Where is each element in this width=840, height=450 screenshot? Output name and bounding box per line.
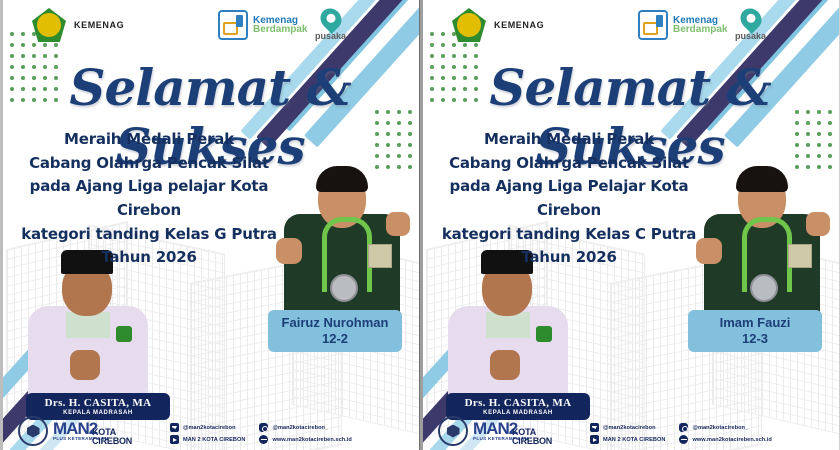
contact-text: @man2kotacirebon	[183, 425, 236, 431]
achievement-line-1: Meraih Medali Perak	[14, 128, 284, 152]
berdampak-mark-icon	[638, 10, 668, 40]
poster-right: KEMENAG Kemenag Berdampak pusaka Selamat…	[420, 0, 840, 450]
school-city-line2-right: CIREBON	[512, 437, 552, 446]
silver-medal-icon	[750, 274, 778, 302]
kemenag-label: KEMENAG	[494, 20, 544, 30]
contact-text: MAN 2 KOTA CIREBON	[603, 437, 665, 443]
principal-photo-left	[28, 248, 148, 398]
student-class-left: 12-2	[272, 331, 398, 347]
kemenag-label: KEMENAG	[74, 20, 124, 30]
contact-text: www.man2kotacireben.sch.id	[272, 437, 351, 443]
youtube-icon	[590, 435, 599, 444]
school-seal-icon	[438, 416, 468, 446]
globe-icon	[259, 435, 268, 444]
poster-pair-canvas: KEMENAG Kemenag Berdampak pusaka Selamat…	[0, 0, 840, 450]
poster-left: KEMENAG Kemenag Berdampak pusaka Selamat…	[0, 0, 420, 450]
kemenag-logo-group: KEMENAG	[452, 8, 544, 42]
contact-text: www.man2kotacireben.sch.id	[692, 437, 771, 443]
achievement-line-5: Tahun 2026	[434, 246, 704, 270]
contact-item[interactable]: @man2kotacirebon	[170, 423, 245, 432]
pusaka-droplet-icon	[316, 4, 346, 34]
contact-item[interactable]: @man2kotacirebon	[590, 423, 665, 432]
youtube-icon	[170, 435, 179, 444]
kemenag-berdampak-logo: Kemenag Berdampak	[218, 10, 307, 40]
student-name-right: Imam Fauzi	[692, 315, 818, 331]
principal-photo-right	[448, 248, 568, 398]
instagram-icon	[679, 423, 688, 432]
student-class-right: 12-3	[692, 331, 818, 347]
globe-icon	[679, 435, 688, 444]
contact-item[interactable]: @man2kotacirebon_	[679, 423, 771, 432]
twitter-icon	[170, 423, 179, 432]
principal-name-left: Drs. H. CASITA, MA	[32, 397, 164, 409]
kemenag-logo-group: KEMENAG	[32, 8, 124, 42]
achievement-line-4: kategori tanding Kelas C Putra	[434, 223, 704, 247]
contact-item[interactable]: @man2kotacirebon_	[259, 423, 351, 432]
achievement-line-2: Cabang Olahrga Pencak Silat	[434, 152, 704, 176]
student-name-badge-right: Imam Fauzi 12-3	[688, 310, 822, 353]
achievement-line-1: Meraih Medali Perak	[434, 128, 704, 152]
twitter-icon	[590, 423, 599, 432]
kemenag-pentagon-icon	[32, 8, 66, 42]
berdampak-mark-icon	[218, 10, 248, 40]
contact-list-right: @man2kotacirebon MAN 2 KOTA CIREBON @man…	[590, 423, 772, 444]
poster-divider	[419, 0, 420, 450]
contact-text: @man2kotacirebon_	[272, 425, 328, 431]
contact-text: @man2kotacirebon_	[692, 425, 748, 431]
contact-list-left: @man2kotacirebon MAN 2 KOTA CIREBON @man…	[170, 423, 352, 444]
pusaka-logo: pusaka	[315, 8, 346, 41]
kemenag-berdampak-logo: Kemenag Berdampak	[638, 10, 727, 40]
poster-footer-right: MAN2 PLUS KETERAMPILAN KOTA CIREBON @man…	[420, 416, 840, 448]
contact-item[interactable]: www.man2kotacireben.sch.id	[679, 435, 771, 444]
principal-name-right: Drs. H. CASITA, MA	[452, 397, 584, 409]
poster-footer-left: MAN2 PLUS KETERAMPILAN KOTA CIREBON @man…	[0, 416, 420, 448]
achievement-text-left: Meraih Medali Perak Cabang Olahrga Penca…	[14, 128, 284, 270]
achievement-line-3: pada Ajang Liga pelajar Kota Cirebon	[14, 175, 284, 222]
poster-header: KEMENAG Kemenag Berdampak pusaka	[420, 0, 840, 52]
school-city-right: KOTA CIREBON	[512, 428, 552, 446]
contact-text: @man2kotacirebon	[603, 425, 656, 431]
school-city-line2-left: CIREBON	[92, 437, 132, 446]
student-name-left: Fairuz Nurohman	[272, 315, 398, 331]
school-city-left: KOTA CIREBON	[92, 428, 132, 446]
contact-item[interactable]: MAN 2 KOTA CIREBON	[590, 435, 665, 444]
achievement-line-5: Tahun 2026	[14, 246, 284, 270]
kemenag-pentagon-icon	[452, 8, 486, 42]
achievement-line-4: kategori tanding Kelas G Putra	[14, 223, 284, 247]
poster-header: KEMENAG Kemenag Berdampak pusaka	[0, 0, 420, 52]
contact-text: MAN 2 KOTA CIREBON	[183, 437, 245, 443]
berdampak-label-line2: Berdampak	[253, 25, 307, 35]
berdampak-label-line2: Berdampak	[673, 25, 727, 35]
achievement-line-2: Cabang Olahrga Pencak Silat	[14, 152, 284, 176]
school-seal-icon	[18, 416, 48, 446]
achievement-text-right: Meraih Medali Perak Cabang Olahrga Penca…	[434, 128, 704, 270]
contact-item[interactable]: MAN 2 KOTA CIREBON	[170, 435, 245, 444]
pusaka-droplet-icon	[736, 4, 766, 34]
achievement-line-3: pada Ajang Liga Pelajar Kota Cirebon	[434, 175, 704, 222]
pusaka-logo: pusaka	[735, 8, 766, 41]
student-name-badge-left: Fairuz Nurohman 12-2	[268, 310, 402, 353]
silver-medal-icon	[330, 274, 358, 302]
instagram-icon	[259, 423, 268, 432]
contact-item[interactable]: www.man2kotacireben.sch.id	[259, 435, 351, 444]
